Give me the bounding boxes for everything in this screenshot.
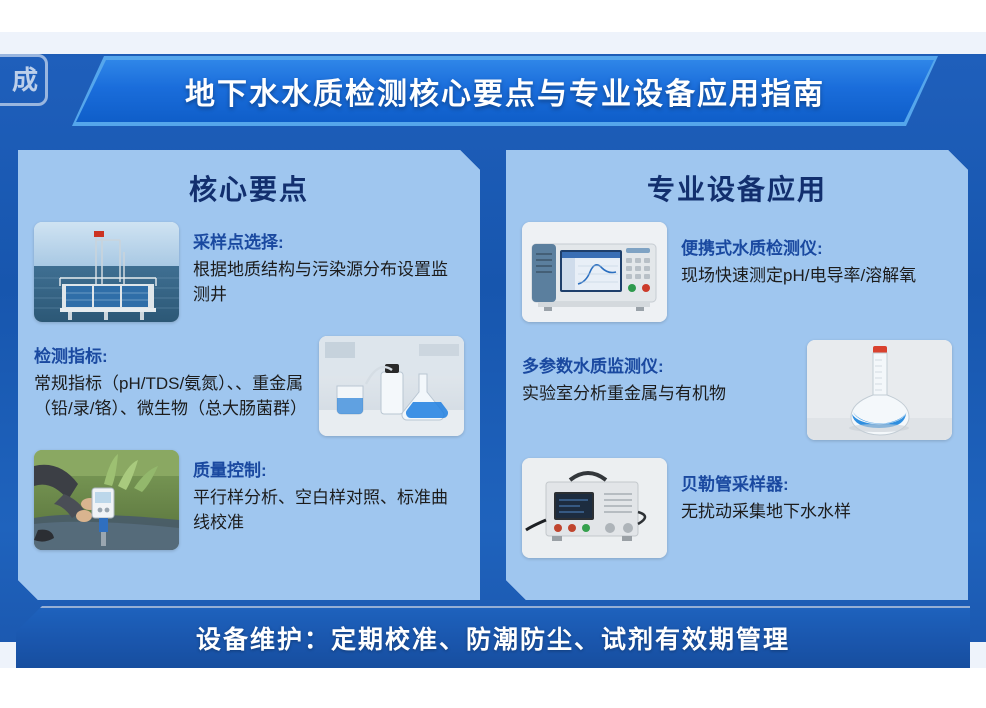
list-item: 检测指标: 常规指标（pH/TDS/氨氮）、、重金属（铅/录/铬）、微生物（总大… <box>34 336 464 436</box>
item-body: 实验室分析重金属与有机物 <box>522 381 793 406</box>
item-heading: 多参数水质监测仪: <box>522 354 793 380</box>
panel-title-professional-equipment: 专业设备应用 <box>522 168 952 208</box>
poster-canvas: 成 地下水水质检测核心要点与专业设备应用指南 核心要点 <box>0 32 986 668</box>
item-body: 平行样分析、空白样对照、标准曲线校准 <box>193 485 464 535</box>
watermark-logo: 成 <box>0 54 48 106</box>
list-item-text: 贝勒管采样器: 无扰动采集地下水水样 <box>681 458 952 524</box>
item-body: 现场快速测定pH/电导率/溶解氧 <box>681 263 952 288</box>
floating-solar-monitoring-platform-image <box>34 222 179 322</box>
footer-text: 设备维护：定期校准、防潮防尘、试剂有效期管理 <box>196 620 790 656</box>
infographic-poster: 成 地下水水质检测核心要点与专业设备应用指南 核心要点 <box>0 0 986 708</box>
list-item: 采样点选择: 根据地质结构与污染源分布设置监测井 <box>34 222 464 322</box>
panel-core-points: 核心要点 <box>18 150 480 600</box>
list-item-text: 质量控制: 平行样分析、空白样对照、标准曲线校准 <box>193 450 464 535</box>
letterbox-bottom <box>0 668 986 708</box>
field-technician-water-probe-image <box>34 450 179 550</box>
item-heading: 便携式水质检测仪: <box>681 236 952 262</box>
list-item: 贝勒管采样器: 无扰动采集地下水水样 <box>522 458 952 558</box>
list-item-text: 便携式水质检测仪: 现场快速测定pH/电导率/溶解氧 <box>681 222 952 288</box>
item-heading: 采样点选择: <box>193 230 464 256</box>
portable-sampler-instrument-image <box>522 458 667 558</box>
panels-container: 核心要点 <box>0 150 986 600</box>
page-title: 地下水水质检测核心要点与专业设备应用指南 <box>185 69 825 113</box>
item-body: 根据地质结构与污染源分布设置监测井 <box>193 257 464 307</box>
footer-banner: 设备维护：定期校准、防潮防尘、试剂有效期管理 <box>16 606 970 668</box>
letterbox-top <box>0 0 986 32</box>
list-item: 便携式水质检测仪: 现场快速测定pH/电导率/溶解氧 <box>522 222 952 322</box>
panel-professional-equipment: 专业设备应用 <box>506 150 968 600</box>
item-body: 常规指标（pH/TDS/氨氮）、、重金属（铅/录/铬）、微生物（总大肠菌群） <box>34 371 305 421</box>
volumetric-flask-blue-liquid-image <box>807 340 952 440</box>
list-item-text: 采样点选择: 根据地质结构与污染源分布设置监测井 <box>193 222 464 307</box>
item-heading: 质量控制: <box>193 458 464 484</box>
list-item: 质量控制: 平行样分析、空白样对照、标准曲线校准 <box>34 450 464 550</box>
item-body: 无扰动采集地下水水样 <box>681 499 952 524</box>
item-heading: 贝勒管采样器: <box>681 472 952 498</box>
item-heading: 检测指标: <box>34 344 305 370</box>
list-item-text: 检测指标: 常规指标（pH/TDS/氨氮）、、重金属（铅/录/铬）、微生物（总大… <box>34 336 305 421</box>
panel-title-core-points: 核心要点 <box>34 168 464 208</box>
list-item: 多参数水质监测仪: 实验室分析重金属与有机物 <box>522 340 952 440</box>
list-item-text: 多参数水质监测仪: 实验室分析重金属与有机物 <box>522 340 793 406</box>
title-banner: 地下水水质检测核心要点与专业设备应用指南 <box>76 60 934 122</box>
laboratory-glassware-beaker-flask-image <box>319 336 464 436</box>
benchtop-analyzer-with-screen-image <box>522 222 667 322</box>
